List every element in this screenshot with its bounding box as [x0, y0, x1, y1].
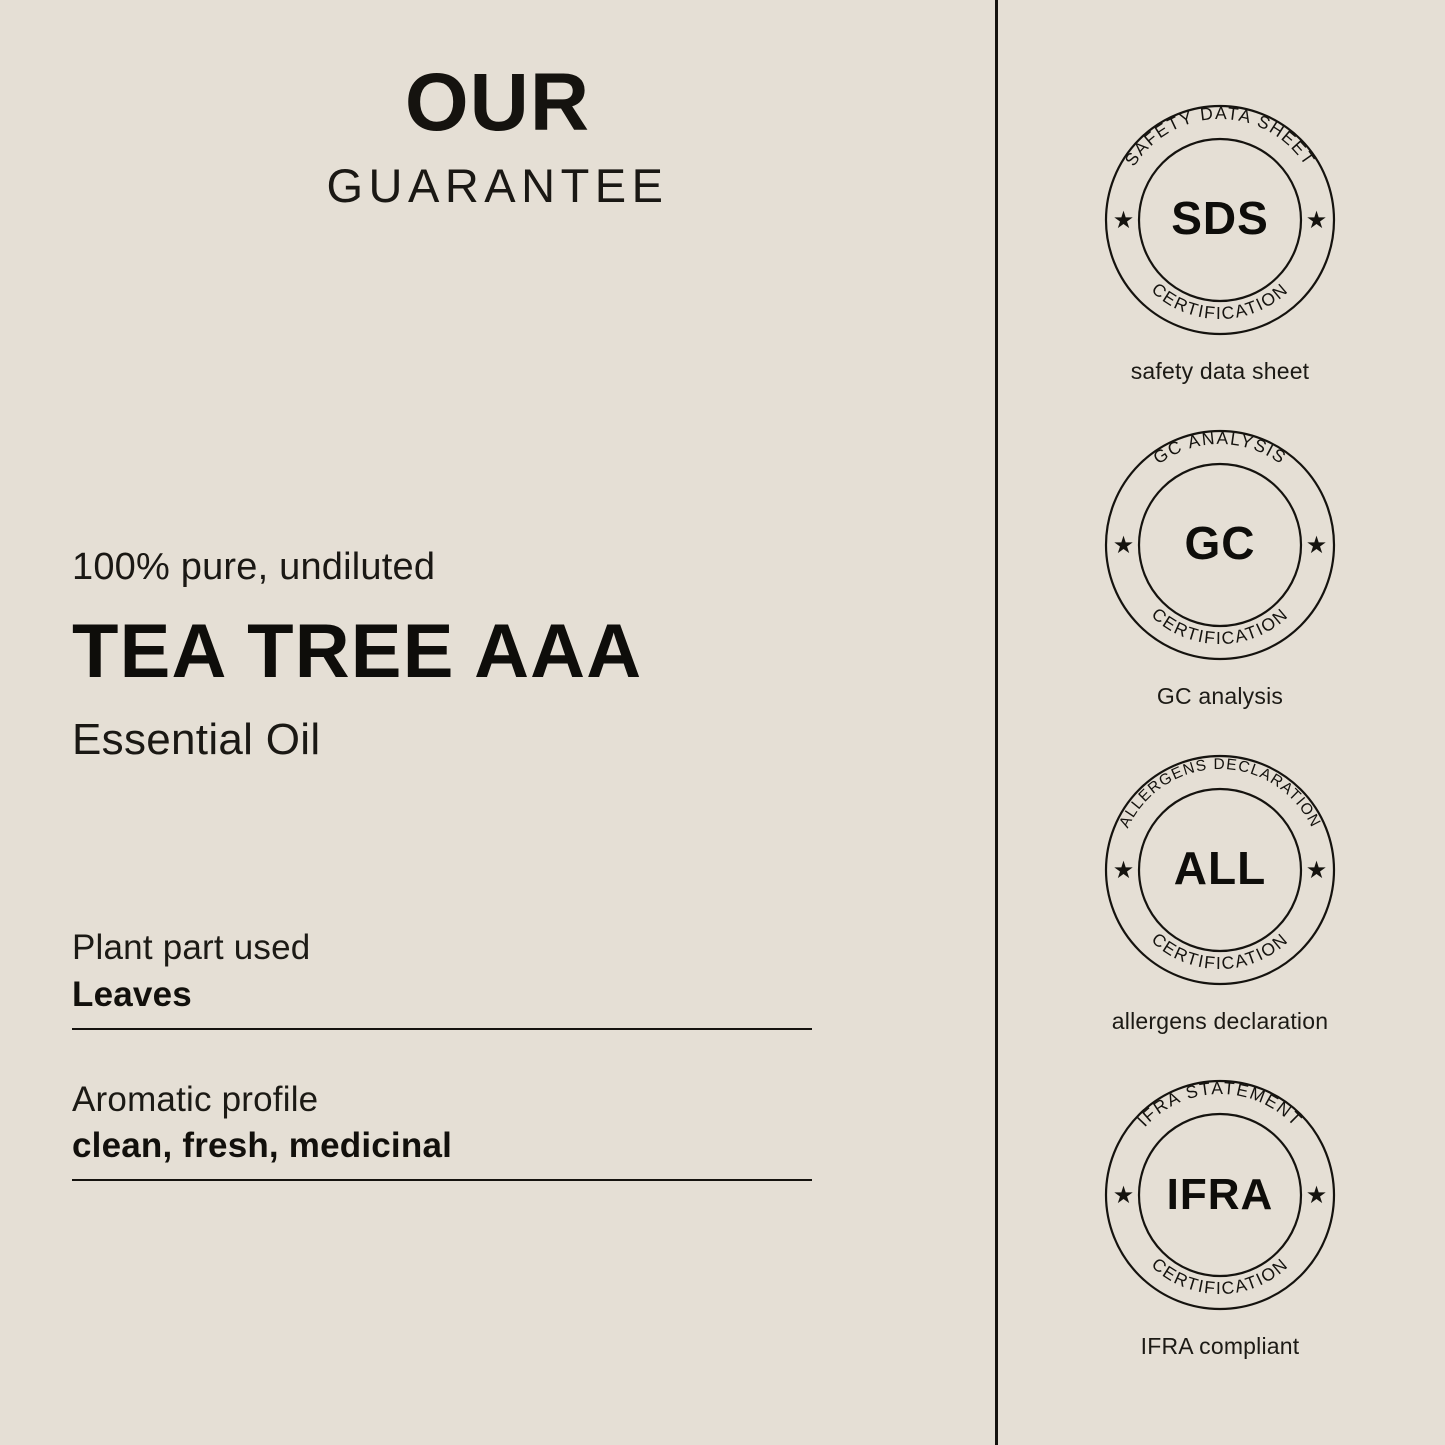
svg-text:ALLERGENS DECLARATION: ALLERGENS DECLARATION — [1116, 756, 1324, 831]
star-icon-right: ★ — [1306, 856, 1328, 884]
star-icon-right: ★ — [1306, 1181, 1328, 1209]
badge-group-sds: SAFETY DATA SHEET CERTIFICATION SDS ★ ★ … — [995, 90, 1445, 386]
badge-abbr: GC — [1185, 517, 1256, 569]
spec-label: Aromatic profile — [72, 1082, 812, 1119]
star-icon-left: ★ — [1113, 531, 1135, 559]
spec-divider — [72, 1179, 812, 1181]
page-title: OUR GUARANTEE — [0, 62, 995, 209]
svg-text:SAFETY DATA SHEET: SAFETY DATA SHEET — [1121, 103, 1320, 170]
allergens-certification-badge-icon: ALLERGENS DECLARATION CERTIFICATION ALL … — [1090, 740, 1350, 1000]
spec-value: clean, fresh, medicinal — [72, 1128, 812, 1165]
badge-group-ifra: IFRA STATEMENT CERTIFICATION IFRA ★ ★ IF… — [995, 1065, 1445, 1361]
product-specs-list: Plant part used Leaves Aromatic profile … — [72, 930, 812, 1181]
star-icon-left: ★ — [1113, 1181, 1135, 1209]
svg-text:GC ANALYSIS: GC ANALYSIS — [1150, 428, 1291, 468]
spec-row-aromatic-profile: Aromatic profile clean, fresh, medicinal — [72, 1082, 812, 1182]
badge-abbr: ALL — [1174, 842, 1266, 894]
guarantee-panel: OUR GUARANTEE 100% pure, undiluted TEA T… — [0, 0, 1445, 1445]
badge-caption: IFRA compliant — [995, 1333, 1445, 1361]
star-icon-left: ★ — [1113, 856, 1135, 884]
page-title-secondary: GUARANTEE — [0, 162, 995, 209]
gc-certification-badge-icon: GC ANALYSIS CERTIFICATION GC ★ ★ — [1090, 415, 1350, 675]
badge-caption: safety data sheet — [995, 358, 1445, 386]
product-type: Essential Oil — [72, 718, 872, 762]
product-heading-block: 100% pure, undiluted TEA TREE AAA Essent… — [72, 548, 872, 762]
badge-group-allergens: ALLERGENS DECLARATION CERTIFICATION ALL … — [995, 740, 1445, 1036]
svg-text:IFRA STATEMENT: IFRA STATEMENT — [1133, 1078, 1307, 1131]
certification-badges-panel: SAFETY DATA SHEET CERTIFICATION SDS ★ ★ … — [995, 0, 1445, 1445]
product-name: TEA TREE AAA — [72, 614, 872, 690]
star-icon-right: ★ — [1306, 531, 1328, 559]
badge-group-gc: GC ANALYSIS CERTIFICATION GC ★ ★ GC anal… — [995, 415, 1445, 711]
spec-label: Plant part used — [72, 930, 812, 967]
badge-arc-top: SAFETY DATA SHEET — [1121, 103, 1320, 170]
ifra-certification-badge-icon: IFRA STATEMENT CERTIFICATION IFRA ★ ★ — [1090, 1065, 1350, 1325]
badge-arc-top: IFRA STATEMENT — [1133, 1078, 1307, 1131]
spec-row-plant-part: Plant part used Leaves — [72, 930, 812, 1030]
star-icon-right: ★ — [1306, 206, 1328, 234]
badge-caption: GC analysis — [995, 683, 1445, 711]
badge-abbr: IFRA — [1167, 1170, 1274, 1219]
badge-caption: allergens declaration — [995, 1008, 1445, 1036]
badge-arc-top: ALLERGENS DECLARATION — [1116, 756, 1324, 831]
spec-divider — [72, 1028, 812, 1030]
product-purity-claim: 100% pure, undiluted — [72, 548, 872, 586]
page-title-primary: OUR — [0, 62, 995, 144]
star-icon-left: ★ — [1113, 206, 1135, 234]
badge-abbr: SDS — [1171, 192, 1269, 244]
left-content-panel: OUR GUARANTEE 100% pure, undiluted TEA T… — [0, 0, 995, 1445]
spec-value: Leaves — [72, 977, 812, 1014]
sds-certification-badge-icon: SAFETY DATA SHEET CERTIFICATION SDS ★ ★ — [1090, 90, 1350, 350]
badge-arc-top: GC ANALYSIS — [1150, 428, 1291, 468]
